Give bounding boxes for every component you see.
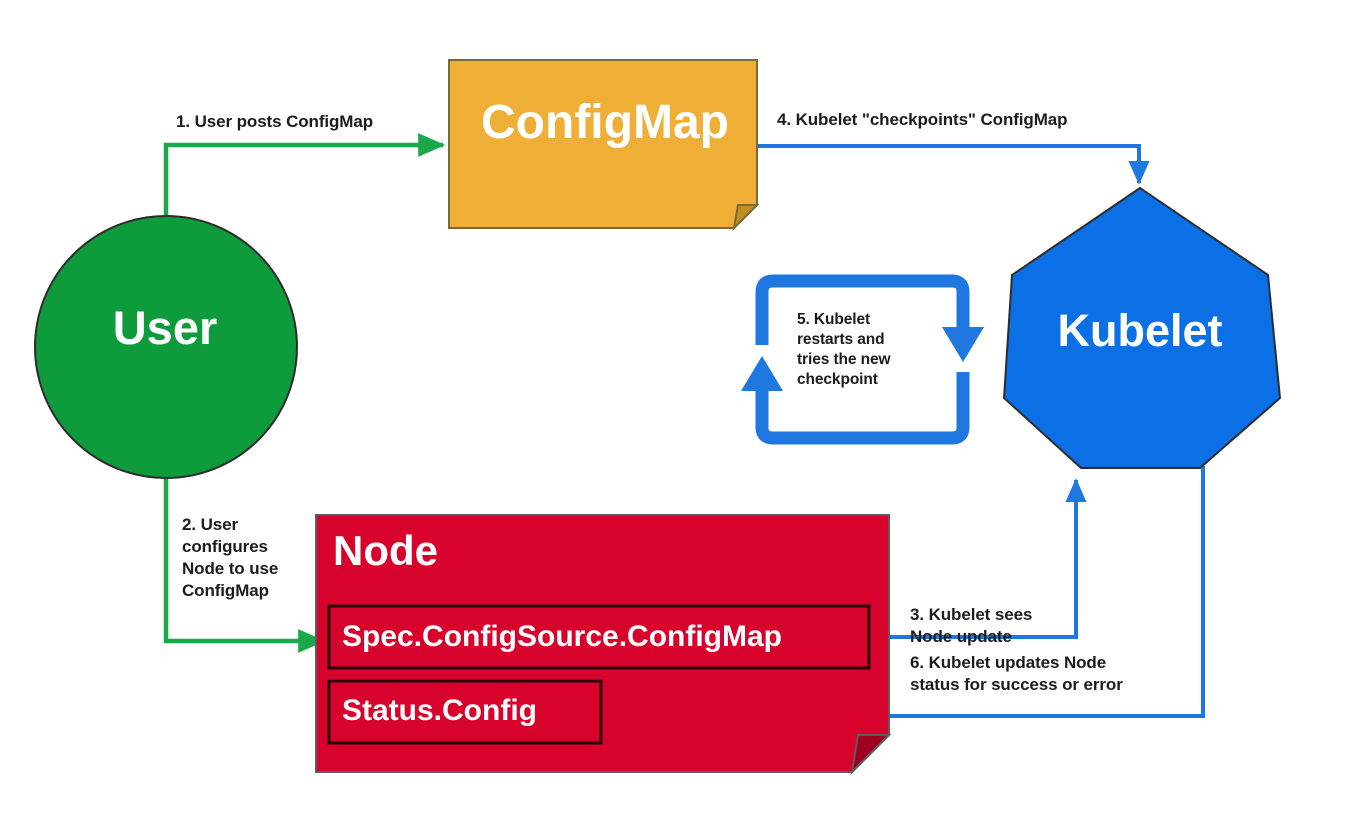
edge-label-1: 1. User posts ConfigMap: [176, 111, 373, 133]
configmap-fold: [734, 205, 757, 228]
edge-label-4: 4. Kubelet "checkpoints" ConfigMap: [777, 109, 1067, 131]
edge-1-user-posts-configmap: [166, 145, 443, 222]
edge-4-path: [757, 146, 1139, 183]
spec-config-source-label: Spec.ConfigSource.ConfigMap: [342, 620, 782, 654]
edge-label-3: 3. Kubelet sees Node update: [910, 604, 1032, 648]
loop-down-arrowhead: [942, 327, 984, 362]
edge-label-5: 5. Kubelet restarts and tries the new ch…: [797, 310, 890, 390]
user-label: User: [35, 300, 295, 355]
status-config-label: Status.Config: [342, 694, 537, 728]
node-fold: [852, 735, 889, 772]
kubelet-label: Kubelet: [1000, 305, 1280, 357]
loop-up-arrowhead: [741, 356, 783, 391]
edge-label-2: 2. User configures Node to use ConfigMap: [182, 514, 278, 602]
edge-label-6: 6. Kubelet updates Node status for succe…: [910, 652, 1123, 696]
configmap-label: ConfigMap: [455, 95, 755, 150]
edge-1-path: [166, 145, 443, 222]
node-title: Node: [333, 527, 438, 575]
edge-4-kubelet-checkpoints-configmap: [757, 146, 1139, 183]
